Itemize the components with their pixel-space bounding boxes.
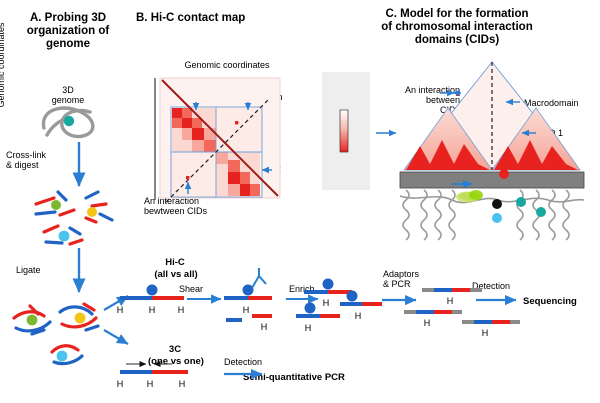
restriction-site-h: H (243, 305, 250, 315)
restriction-site-h: H (355, 311, 362, 321)
restriction-site-h: H (323, 298, 330, 308)
hic-library: H H H (404, 290, 520, 338)
restriction-site-h: H (261, 322, 268, 332)
figure-root: A. Probing 3D organization of genome 3D … (0, 0, 600, 403)
antibody-icon (252, 268, 266, 288)
restriction-site-h: H (305, 323, 312, 333)
restriction-site-h: H (482, 328, 489, 338)
restriction-site-h: H (117, 379, 124, 389)
hic-construct-enriched: H H H (296, 279, 382, 334)
restriction-site-h: H (179, 379, 186, 389)
restriction-site-h: H (147, 379, 154, 389)
threec-construct: H H H (117, 364, 188, 389)
restriction-site-h: H (447, 296, 454, 306)
hic-construct-start: H H H (117, 285, 185, 316)
restriction-site-h: H (149, 305, 156, 315)
workflow-graphics: H H H H H H H (0, 0, 600, 403)
restriction-site-h: H (424, 318, 431, 328)
restriction-site-h: H (178, 305, 185, 315)
restriction-site-h: H (117, 305, 124, 315)
hic-construct-sheared: H H (224, 268, 272, 332)
